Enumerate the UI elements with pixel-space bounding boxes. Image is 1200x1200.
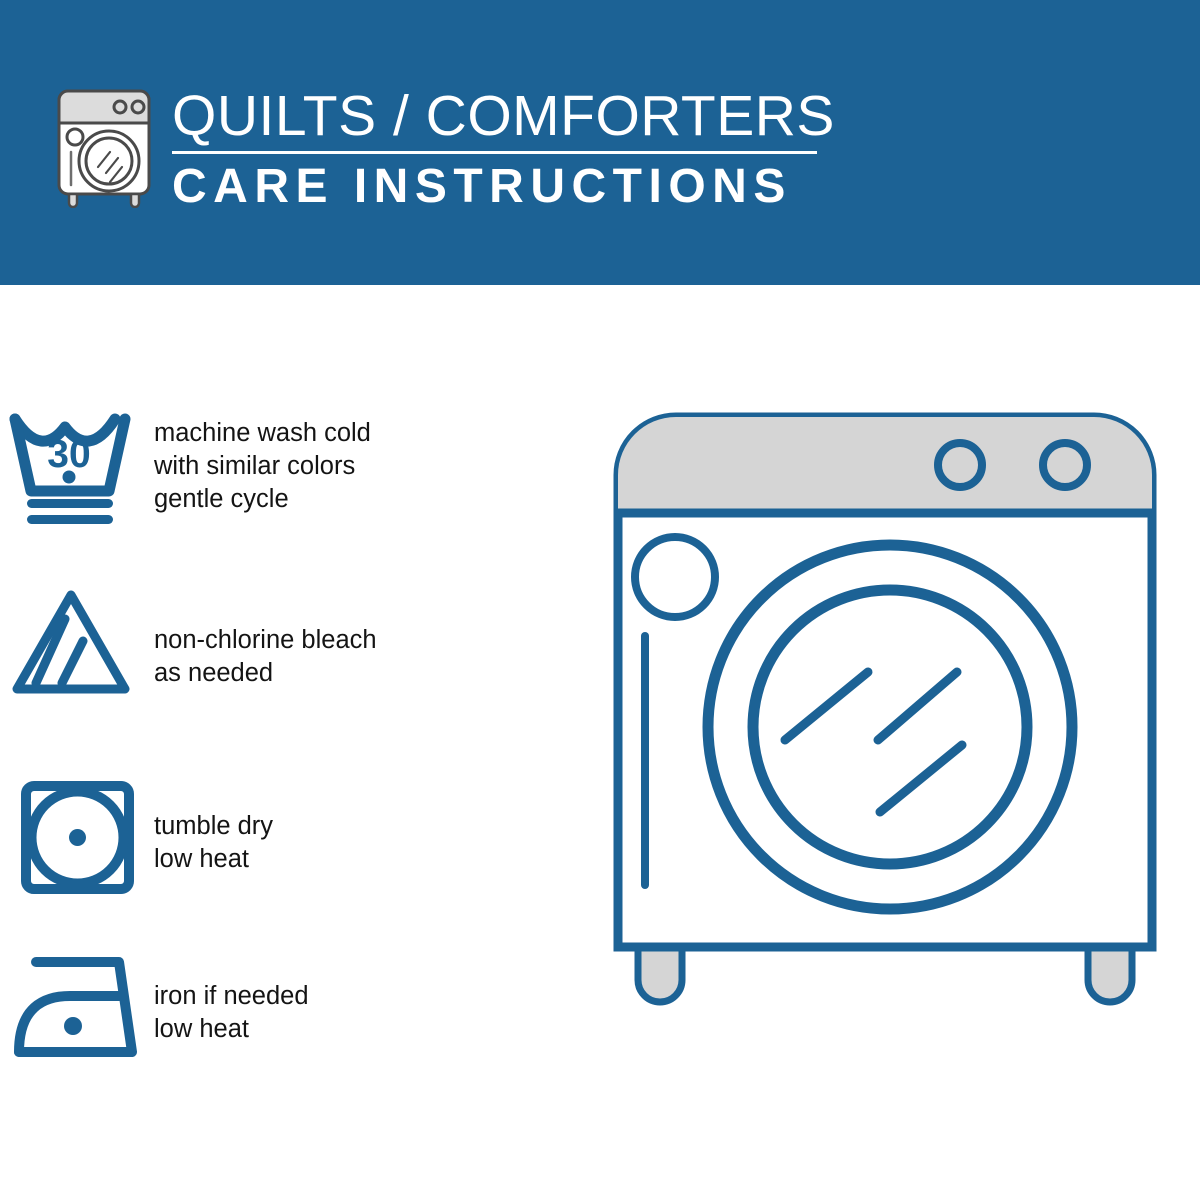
non-chlorine-bleach-triangle-icon	[0, 585, 150, 705]
title-block: QUILTS / COMFORTERS CARE INSTRUCTIONS	[172, 86, 822, 214]
care-row-tumble-dry: tumble dry low heat	[0, 780, 540, 895]
care-text-iron: iron if needed low heat	[150, 950, 540, 1046]
wash-temperature-label: 30	[47, 433, 90, 476]
care-line: low heat	[154, 1013, 540, 1046]
page-header: QUILTS / COMFORTERS CARE INSTRUCTIONS	[0, 0, 1200, 285]
washing-machine-icon	[52, 82, 156, 208]
care-line: iron if needed	[154, 980, 540, 1013]
tumble-dry-low-heat-icon	[0, 780, 150, 895]
care-line: machine wash cold	[154, 417, 540, 450]
care-row-machine-wash: 30 machine wash cold with similar colors…	[0, 405, 540, 530]
knob-right	[1043, 443, 1087, 487]
iron-low-heat-icon	[0, 950, 150, 1065]
care-row-bleach: non-chlorine bleach as needed	[0, 585, 540, 705]
page-title: QUILTS / COMFORTERS	[172, 86, 822, 146]
care-line: low heat	[154, 843, 540, 876]
wash-tub-30-gentle-icon: 30	[0, 405, 150, 530]
care-line: as needed	[154, 657, 540, 690]
knob-left	[938, 443, 982, 487]
care-row-iron: iron if needed low heat	[0, 950, 540, 1065]
leg-right	[1088, 945, 1132, 1002]
care-text-machine-wash: machine wash cold with similar colors ge…	[150, 405, 540, 516]
care-text-bleach: non-chlorine bleach as needed	[150, 585, 540, 690]
leg-left	[638, 945, 682, 1002]
care-line: tumble dry	[154, 810, 540, 843]
care-line: gentle cycle	[154, 483, 540, 516]
care-instruction-list: 30 machine wash cold with similar colors…	[0, 285, 560, 1200]
page-subtitle: CARE INSTRUCTIONS	[172, 160, 822, 214]
washing-machine-illustration	[600, 400, 1200, 1140]
care-line: with similar colors	[154, 450, 540, 483]
care-line: non-chlorine bleach	[154, 624, 540, 657]
care-text-tumble-dry: tumble dry low heat	[150, 780, 540, 876]
detergent-dispenser-circle	[635, 537, 715, 617]
title-divider	[172, 151, 817, 154]
